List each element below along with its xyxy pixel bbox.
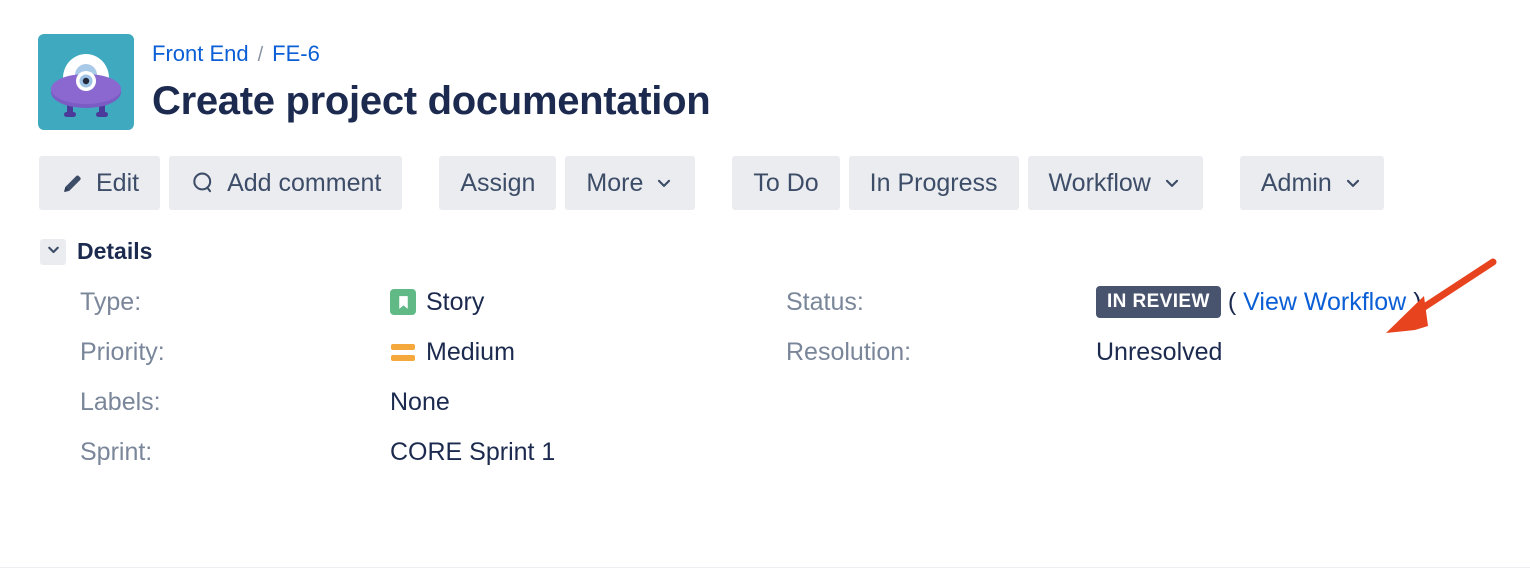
transition-to-do-label: To Do	[753, 171, 818, 196]
field-row-sprint: Sprint: CORE Sprint 1	[80, 427, 780, 477]
details-section-title: Details	[77, 238, 152, 265]
type-value: Story	[390, 288, 484, 317]
ufo-icon	[51, 54, 121, 117]
sprint-value: CORE Sprint 1	[390, 438, 555, 467]
toolbar-group-primary: Edit Add comment	[39, 156, 402, 210]
details-right-column: Status: IN REVIEW ( View Workflow ) Reso…	[786, 277, 1486, 377]
admin-menu-button[interactable]: Admin	[1240, 156, 1384, 210]
field-row-labels: Labels: None	[80, 377, 780, 427]
breadcrumb-issue-link[interactable]: FE-6	[272, 40, 320, 68]
breadcrumb: Front End / FE-6	[152, 40, 710, 69]
priority-medium-icon	[390, 339, 416, 365]
more-menu-button[interactable]: More	[565, 156, 695, 210]
breadcrumb-separator: /	[258, 41, 264, 69]
view-workflow-link[interactable]: View Workflow	[1243, 288, 1406, 317]
header-text-block: Front End / FE-6 Create project document…	[152, 34, 710, 125]
edit-button-label: Edit	[96, 171, 139, 196]
transition-in-progress-label: In Progress	[870, 171, 998, 196]
status-badge: IN REVIEW	[1096, 286, 1221, 318]
workflow-menu-button[interactable]: Workflow	[1028, 156, 1203, 210]
details-section-header: Details	[0, 210, 1530, 265]
story-icon	[390, 289, 416, 315]
type-value-text: Story	[426, 288, 484, 317]
more-menu-label: More	[586, 171, 643, 196]
toolbar-group-actions: Assign More	[439, 156, 695, 210]
issue-toolbar: Edit Add comment Assign More	[0, 130, 1530, 210]
labels-value-text: None	[390, 388, 450, 417]
status-value: IN REVIEW ( View Workflow )	[1096, 286, 1422, 318]
resolution-value: Unresolved	[1096, 338, 1222, 367]
priority-value-text: Medium	[426, 338, 515, 367]
assign-button-label: Assign	[460, 171, 535, 196]
resolution-label: Resolution:	[786, 338, 1096, 367]
chevron-down-icon	[654, 173, 674, 193]
toolbar-group-admin: Admin	[1240, 156, 1384, 210]
field-row-priority: Priority: Medium	[80, 327, 780, 377]
field-row-type: Type: Story	[80, 277, 780, 327]
comment-bubble-icon	[190, 170, 216, 196]
workflow-menu-label: Workflow	[1049, 171, 1151, 196]
pencil-icon	[60, 171, 85, 196]
assign-button[interactable]: Assign	[439, 156, 556, 210]
type-label: Type:	[80, 288, 390, 317]
field-row-resolution: Resolution: Unresolved	[786, 327, 1486, 377]
project-avatar	[38, 34, 134, 130]
breadcrumb-project-link[interactable]: Front End	[152, 40, 249, 68]
chevron-down-icon	[1343, 173, 1363, 193]
admin-menu-label: Admin	[1261, 171, 1332, 196]
resolution-value-text: Unresolved	[1096, 338, 1222, 367]
status-open-paren: (	[1228, 288, 1236, 317]
status-label: Status:	[786, 288, 1096, 317]
issue-header: Front End / FE-6 Create project document…	[0, 0, 1530, 130]
chevron-down-icon	[45, 241, 62, 263]
priority-value: Medium	[390, 338, 515, 367]
priority-label: Priority:	[80, 338, 390, 367]
details-fields: Type: Story Priority: Medium Labels:	[0, 265, 1530, 277]
transition-in-progress-button[interactable]: In Progress	[849, 156, 1019, 210]
transition-to-do-button[interactable]: To Do	[732, 156, 839, 210]
add-comment-button[interactable]: Add comment	[169, 156, 402, 210]
page-title: Create project documentation	[152, 77, 710, 125]
sprint-value-text: CORE Sprint 1	[390, 438, 555, 467]
labels-label: Labels:	[80, 388, 390, 417]
edit-button[interactable]: Edit	[39, 156, 160, 210]
labels-value: None	[390, 388, 450, 417]
details-left-column: Type: Story Priority: Medium Labels:	[80, 277, 780, 477]
details-collapse-toggle[interactable]	[40, 239, 66, 265]
add-comment-button-label: Add comment	[227, 171, 381, 196]
sprint-label: Sprint:	[80, 438, 390, 467]
status-close-paren: )	[1413, 288, 1421, 317]
toolbar-group-transitions: To Do In Progress Workflow	[732, 156, 1203, 210]
field-row-status: Status: IN REVIEW ( View Workflow )	[786, 277, 1486, 327]
chevron-down-icon	[1162, 173, 1182, 193]
